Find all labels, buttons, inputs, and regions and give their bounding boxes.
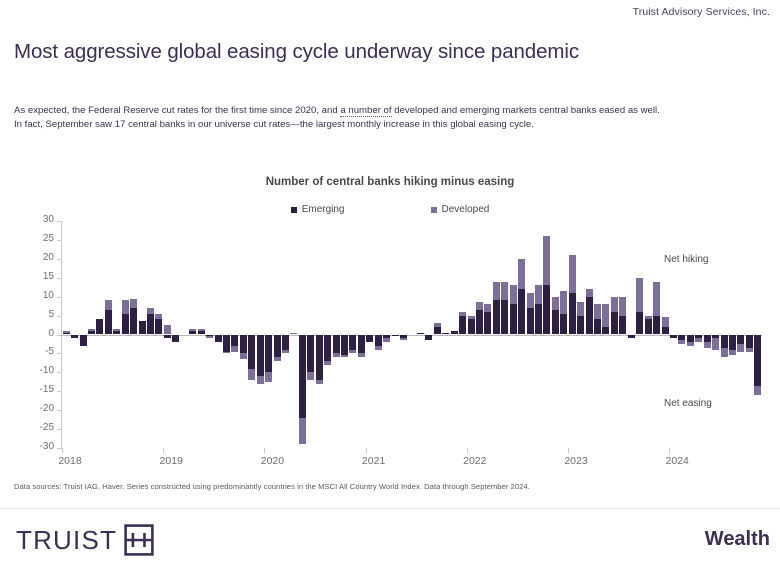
bar-segment-emerging [366, 335, 373, 343]
page-title: Most aggressive global easing cycle unde… [14, 40, 579, 64]
chart-legend: Emerging Developed [0, 204, 780, 215]
bar-stack[interactable] [366, 221, 373, 448]
bar-segment-developed [434, 323, 441, 327]
bar-stack[interactable] [425, 221, 432, 448]
bar-segment-emerging [729, 335, 736, 350]
bar-segment-developed [662, 317, 669, 326]
y-axis-tick [57, 316, 62, 317]
bar-stack[interactable] [501, 221, 508, 448]
bar-stack[interactable] [215, 221, 222, 448]
bar-stack[interactable] [535, 221, 542, 448]
bar-segment-developed [274, 357, 281, 361]
bar-segment-emerging [139, 321, 146, 334]
bar-segment-emerging [324, 335, 331, 361]
bar-segment-emerging [737, 335, 744, 344]
bar-segment-developed [341, 355, 348, 357]
wealth-label: Wealth [705, 528, 770, 551]
bar-segment-developed [257, 376, 264, 384]
bar-stack[interactable] [105, 221, 112, 448]
bar-stack[interactable] [602, 221, 609, 448]
chart-title: Number of central banks hiking minus eas… [0, 176, 780, 188]
footer-divider [0, 508, 780, 509]
bar-segment-emerging [282, 335, 289, 350]
bar-stack[interactable] [493, 221, 500, 448]
x-axis-tick [467, 448, 468, 453]
bar-stack[interactable] [349, 221, 356, 448]
x-axis-tick [62, 448, 63, 453]
x-axis-tick-label: 2024 [666, 455, 689, 467]
bar-stack[interactable] [653, 221, 660, 448]
bar-stack[interactable] [611, 221, 618, 448]
bar-segment-emerging [451, 331, 458, 335]
bar-segment-developed [265, 372, 272, 381]
bar-stack[interactable] [155, 221, 162, 448]
bar-segment-emerging [476, 310, 483, 335]
bar-stack[interactable] [645, 221, 652, 448]
bar-segment-developed [687, 342, 694, 346]
y-axis-tick-label: -15 [14, 384, 54, 395]
bar-segment-developed [527, 293, 534, 308]
bar-stack[interactable] [754, 221, 761, 448]
bar-segment-developed [569, 255, 576, 293]
bar-stack[interactable] [341, 221, 348, 448]
bar-segment-developed [560, 291, 567, 314]
bar-stack[interactable] [577, 221, 584, 448]
y-axis-tick [57, 221, 62, 222]
bar-stack[interactable] [130, 221, 137, 448]
bar-segment-emerging [645, 319, 652, 334]
bar-segment-developed [754, 386, 761, 395]
legend-item-developed[interactable]: Developed [431, 204, 490, 215]
truist-wordmark: TRUIST [16, 525, 117, 556]
bar-segment-developed [400, 338, 407, 340]
bar-segment-emerging [113, 331, 120, 335]
y-axis-tick-label: -30 [14, 441, 54, 452]
bar-segment-developed [130, 299, 137, 308]
bar-segment-emerging [535, 304, 542, 334]
bar-segment-emerging [670, 335, 677, 339]
x-axis-tick [366, 448, 367, 453]
bar-stack[interactable] [737, 221, 744, 448]
bar-stack[interactable] [510, 221, 517, 448]
bar-segment-emerging [586, 297, 593, 335]
y-axis-tick [57, 372, 62, 373]
bar-segment-developed [586, 289, 593, 297]
bar-stack[interactable] [721, 221, 728, 448]
bar-stack[interactable] [712, 221, 719, 448]
y-axis-tick-label: -25 [14, 422, 54, 433]
bar-stack[interactable] [290, 221, 297, 448]
bar-stack[interactable] [274, 221, 281, 448]
bar-stack[interactable] [383, 221, 390, 448]
annotation-net-hiking: Net hiking [664, 254, 708, 265]
bar-segment-emerging [223, 335, 230, 352]
bar-segment-emerging [155, 319, 162, 334]
bar-stack[interactable] [619, 221, 626, 448]
y-axis-tick [57, 278, 62, 279]
data-source-note: Data sources: Truist IAG, Haver. Series … [14, 482, 530, 491]
y-axis-tick [57, 240, 62, 241]
bar-segment-emerging [628, 335, 635, 339]
truist-hh-logo-icon [124, 524, 154, 556]
bar-stack[interactable] [206, 221, 213, 448]
y-axis-tick [57, 353, 62, 354]
bar-segment-emerging [527, 308, 534, 334]
y-axis-tick [57, 391, 62, 392]
x-axis-tick-label: 2022 [463, 455, 486, 467]
bar-segment-emerging [172, 335, 179, 343]
bar-stack[interactable] [164, 221, 171, 448]
bar-segment-emerging [417, 333, 424, 335]
bar-segment-emerging [577, 316, 584, 335]
x-axis-tick-label: 2021 [362, 455, 385, 467]
y-axis-tick-label: 5 [14, 309, 54, 320]
bar-segment-emerging [662, 327, 669, 335]
bar-stack[interactable] [527, 221, 534, 448]
x-axis-tick-label: 2018 [58, 455, 81, 467]
bar-segment-developed [577, 302, 584, 315]
bar-stack[interactable] [122, 221, 129, 448]
bar-segment-developed [198, 329, 205, 331]
bar-segment-developed [484, 304, 491, 312]
bar-segment-emerging [147, 314, 154, 335]
bar-stack[interactable] [299, 221, 306, 448]
bar-stack[interactable] [409, 221, 416, 448]
bar-segment-emerging [130, 308, 137, 334]
bar-segment-developed [358, 353, 365, 357]
bar-stack[interactable] [147, 221, 154, 448]
bar-stack[interactable] [324, 221, 331, 448]
bar-stack[interactable] [459, 221, 466, 448]
bar-segment-developed [248, 369, 255, 380]
bar-segment-developed [653, 282, 660, 316]
x-axis-tick [163, 448, 164, 453]
bar-stack[interactable] [88, 221, 95, 448]
bar-segment-emerging [299, 335, 306, 418]
bar-segment-developed [299, 418, 306, 444]
y-axis-tick [57, 259, 62, 260]
bar-segment-developed [155, 314, 162, 320]
bar-segment-emerging [602, 327, 609, 335]
bar-stack[interactable] [417, 221, 424, 448]
bar-stack[interactable] [518, 221, 525, 448]
bar-segment-developed [501, 282, 508, 301]
bar-segment-emerging [653, 316, 660, 335]
bar-segment-developed [63, 331, 70, 333]
legend-label-developed: Developed [442, 204, 490, 215]
bar-stack[interactable] [63, 221, 70, 448]
bar-segment-emerging [721, 335, 728, 348]
bar-stack[interactable] [586, 221, 593, 448]
bar-stack[interactable] [189, 221, 196, 448]
bar-stack[interactable] [400, 221, 407, 448]
bar-stack[interactable] [729, 221, 736, 448]
bar-segment-developed [746, 348, 753, 352]
bar-segment-emerging [333, 335, 340, 354]
bar-stack[interactable] [434, 221, 441, 448]
bar-stack[interactable] [560, 221, 567, 448]
bar-segment-emerging [543, 285, 550, 334]
bar-segment-developed [349, 350, 356, 354]
bar-segment-developed [164, 325, 171, 334]
x-axis-tick-label: 2020 [261, 455, 284, 467]
y-axis-tick [57, 335, 62, 336]
bar-segment-emerging [358, 335, 365, 354]
bar-stack[interactable] [139, 221, 146, 448]
bar-stack[interactable] [71, 221, 78, 448]
bar-segment-emerging [560, 314, 567, 335]
subhead-line1-underlined: a number of [340, 105, 391, 117]
x-axis-tick-label: 2023 [564, 455, 587, 467]
truist-brand-lockup: TRUIST [16, 524, 154, 556]
bar-segment-developed [493, 282, 500, 301]
bar-segment-emerging [552, 310, 559, 335]
x-axis-tick-label: 2019 [160, 455, 183, 467]
y-axis-tick [57, 429, 62, 430]
bar-segment-developed [316, 380, 323, 384]
company-attribution: Truist Advisory Services, Inc. [633, 6, 770, 18]
bar-stack[interactable] [257, 221, 264, 448]
bar-stack[interactable] [240, 221, 247, 448]
subhead-paragraph: As expected, the Federal Reserve cut rat… [14, 104, 774, 131]
bar-segment-developed [645, 316, 652, 320]
bar-segment-emerging [349, 335, 356, 350]
bar-segment-emerging [88, 331, 95, 335]
bar-stack[interactable] [594, 221, 601, 448]
bar-segment-developed [476, 302, 483, 310]
bar-segment-developed [189, 329, 196, 331]
y-axis-tick-label: 30 [14, 214, 54, 225]
bar-segment-emerging [484, 312, 491, 335]
y-axis-tick-label: 25 [14, 233, 54, 244]
bar-stack[interactable] [316, 221, 323, 448]
bar-segment-developed [307, 372, 314, 380]
bar-segment-developed [147, 308, 154, 314]
bar-segment-developed [704, 342, 711, 348]
bar-segment-developed [375, 346, 382, 350]
bar-segment-emerging [307, 335, 314, 373]
bar-stack[interactable] [80, 221, 87, 448]
bar-segment-developed [383, 338, 390, 342]
bar-segment-developed [459, 312, 466, 316]
bar-stack[interactable] [484, 221, 491, 448]
bar-segment-emerging [442, 333, 449, 335]
chart-container: Number of central banks hiking minus eas… [0, 168, 780, 468]
bar-segment-emerging [96, 319, 103, 334]
bar-segment-emerging [636, 312, 643, 335]
bar-segment-developed [324, 361, 331, 365]
bar-segment-emerging [434, 327, 441, 335]
bar-segment-emerging [594, 319, 601, 334]
bar-stack[interactable] [113, 221, 120, 448]
bar-segment-developed [206, 336, 213, 338]
bar-stack[interactable] [181, 221, 188, 448]
bar-segment-emerging [265, 335, 272, 373]
y-axis-tick-label: 10 [14, 290, 54, 301]
bar-segment-emerging [468, 319, 475, 334]
bar-segment-emerging [425, 335, 432, 341]
y-axis-tick-label: -5 [14, 346, 54, 357]
bar-stack[interactable] [198, 221, 205, 448]
legend-item-emerging[interactable]: Emerging [291, 204, 345, 215]
bar-stack[interactable] [468, 221, 475, 448]
bar-stack[interactable] [282, 221, 289, 448]
bar-stack[interactable] [746, 221, 753, 448]
bar-segment-emerging [257, 335, 264, 377]
bar-stack[interactable] [333, 221, 340, 448]
legend-swatch-developed [431, 207, 437, 213]
y-axis-tick-label: -10 [14, 365, 54, 376]
bar-segment-developed [122, 300, 129, 313]
bar-segment-developed [240, 353, 247, 359]
y-axis-tick [57, 297, 62, 298]
bar-stack[interactable] [628, 221, 635, 448]
bar-stack[interactable] [96, 221, 103, 448]
bar-stack[interactable] [543, 221, 550, 448]
bar-segment-emerging [198, 331, 205, 335]
subhead-line1-part3: developed and emerging markets central b… [392, 105, 660, 116]
bar-segment-developed [282, 350, 289, 354]
x-axis-tick [264, 448, 265, 453]
bar-segment-developed [678, 340, 685, 344]
annotation-net-easing: Net easing [664, 398, 712, 409]
bar-segment-emerging [569, 293, 576, 335]
bar-stack[interactable] [392, 221, 399, 448]
bar-segment-developed [468, 316, 475, 320]
bar-segment-emerging [704, 335, 711, 343]
bar-stack[interactable] [476, 221, 483, 448]
bar-segment-developed [518, 259, 525, 289]
bar-segment-emerging [493, 300, 500, 334]
y-axis-tick-label: -20 [14, 403, 54, 414]
bar-segment-emerging [316, 335, 323, 380]
bar-segment-developed [543, 236, 550, 285]
bar-segment-emerging [274, 335, 281, 358]
bar-segment-emerging [231, 335, 238, 346]
y-axis-tick [57, 410, 62, 411]
bar-segment-developed [594, 304, 601, 319]
bar-stack[interactable] [265, 221, 272, 448]
bar-segment-developed [333, 353, 340, 357]
bar-segment-developed [223, 352, 230, 354]
x-axis-tick [568, 448, 569, 453]
bar-stack[interactable] [636, 221, 643, 448]
bar-segment-developed [88, 329, 95, 331]
legend-label-emerging: Emerging [302, 204, 345, 215]
bar-segment-emerging [71, 335, 78, 339]
bar-segment-developed [290, 333, 297, 335]
bar-segment-emerging [501, 300, 508, 334]
bar-segment-developed [619, 297, 626, 316]
bar-segment-emerging [215, 335, 222, 343]
bar-segment-developed [231, 346, 238, 352]
x-axis-tick [669, 448, 670, 453]
bar-segment-developed [712, 338, 719, 349]
y-axis-tick-label: 15 [14, 271, 54, 282]
bar-segment-emerging [80, 335, 87, 346]
bar-segment-emerging [189, 331, 196, 335]
subhead-line2: In fact, September saw 17 central banks … [14, 119, 534, 130]
bar-segment-developed [510, 285, 517, 304]
bar-stack[interactable] [223, 221, 230, 448]
legend-swatch-emerging [291, 207, 297, 213]
bar-segment-developed [611, 297, 618, 312]
bar-segment-developed [552, 297, 559, 310]
bar-stack[interactable] [442, 221, 449, 448]
y-axis-tick-label: 20 [14, 252, 54, 263]
bar-segment-emerging [392, 335, 399, 337]
bar-segment-emerging [240, 335, 247, 354]
bar-segment-developed [535, 285, 542, 304]
bar-segment-developed [695, 338, 702, 342]
bar-stack[interactable] [231, 221, 238, 448]
bar-segment-emerging [687, 335, 694, 343]
bar-segment-developed [602, 304, 609, 327]
bar-segment-emerging [164, 335, 171, 339]
bar-segment-emerging [510, 304, 517, 334]
bar-stack[interactable] [451, 221, 458, 448]
bar-segment-developed [636, 278, 643, 312]
bar-segment-emerging [375, 335, 382, 346]
bar-segment-emerging [341, 335, 348, 356]
y-axis-tick-label: 0 [14, 328, 54, 339]
bar-segment-emerging [105, 310, 112, 335]
subhead-line1-part1: As expected, the Federal Reserve cut rat… [14, 105, 340, 116]
bar-segment-developed [113, 329, 120, 331]
bar-segment-developed [737, 344, 744, 352]
bar-stack[interactable] [569, 221, 576, 448]
bar-stack[interactable] [358, 221, 365, 448]
bar-segment-emerging [248, 335, 255, 369]
bar-segment-emerging [611, 312, 618, 335]
bar-stack[interactable] [307, 221, 314, 448]
bar-stack[interactable] [172, 221, 179, 448]
bar-stack[interactable] [552, 221, 559, 448]
bar-segment-developed [729, 350, 736, 356]
bar-segment-emerging [122, 314, 129, 335]
bar-stack[interactable] [375, 221, 382, 448]
bar-segment-emerging [459, 316, 466, 335]
bar-segment-emerging [63, 333, 70, 335]
bar-segment-emerging [619, 316, 626, 335]
bar-stack[interactable] [248, 221, 255, 448]
bar-segment-developed [721, 348, 728, 357]
plot-area: 302520151050-5-10-15-20-25-30 2018201920… [62, 221, 762, 448]
bar-segment-emerging [754, 335, 761, 386]
bar-segment-developed [105, 300, 112, 309]
bar-segment-emerging [746, 335, 753, 348]
bar-segment-emerging [518, 289, 525, 334]
